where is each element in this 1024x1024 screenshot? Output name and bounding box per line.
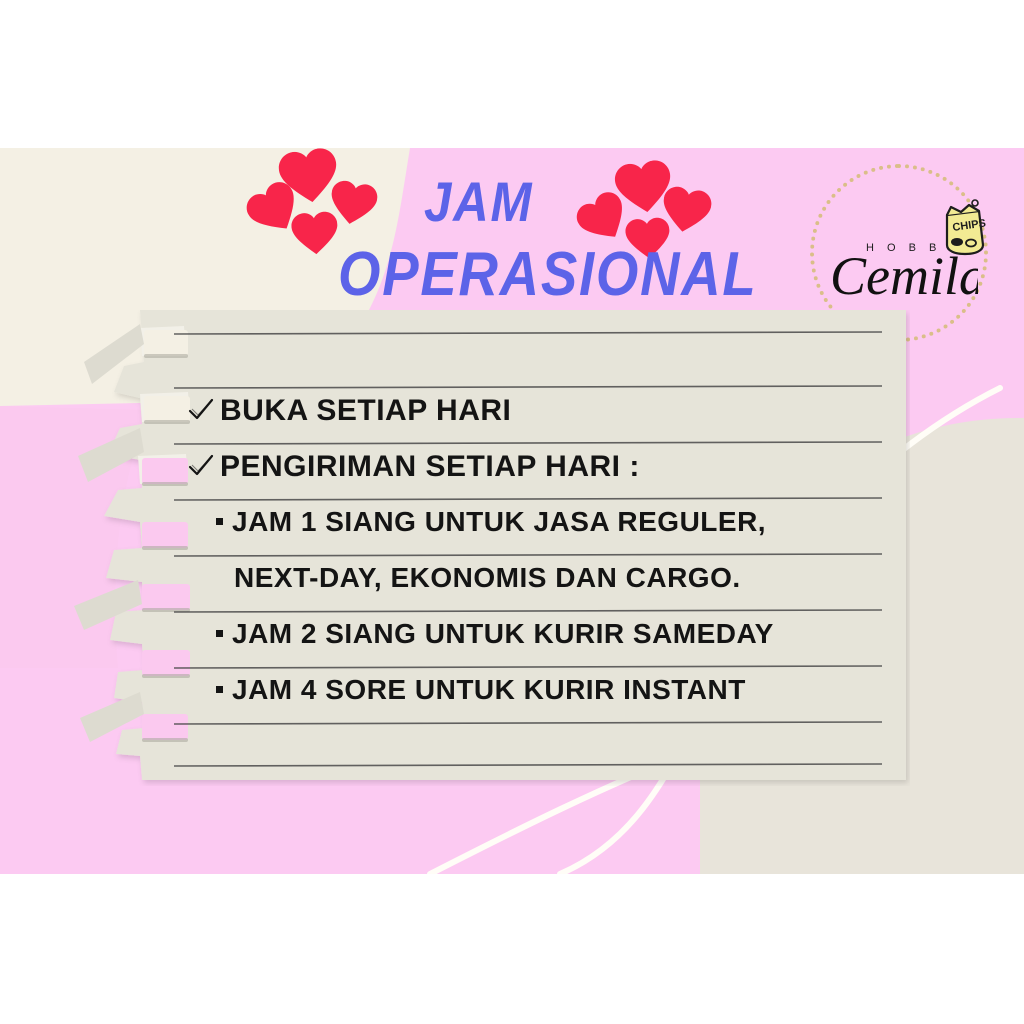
note-item-text: PENGIRIMAN SETIAP HARI : (220, 452, 640, 482)
check-icon (188, 398, 214, 422)
graphic-band: JAM OPERASIONAL H O B B Y Cemilan CHIPS (0, 148, 1024, 874)
note-item-text: JAM 2 SIANG UNTUK KURIR SAMEDAY (232, 620, 774, 648)
note-paper: BUKA SETIAP HARI PENGIRIMAN SETIAP HARI … (44, 310, 910, 786)
check-icon (188, 454, 214, 478)
note-item-text: JAM 1 SIANG UNTUK JASA REGULER, (232, 508, 766, 536)
bullet-icon (216, 518, 223, 525)
chips-bag-icon: CHIPS (935, 197, 989, 257)
note-item-text: BUKA SETIAP HARI (220, 396, 511, 426)
heart-icon (291, 210, 340, 257)
note-item-text: NEXT-DAY, EKONOMIS DAN CARGO. (234, 564, 741, 592)
note-ruled-lines (44, 310, 910, 786)
poster-canvas: JAM OPERASIONAL H O B B Y Cemilan CHIPS (0, 0, 1024, 1024)
note-item-text: JAM 4 SORE UNTUK KURIR INSTANT (232, 676, 746, 704)
bullet-icon (216, 630, 223, 637)
bullet-icon (216, 686, 223, 693)
page-title-line1: JAM (424, 174, 533, 230)
page-title-line2: OPERASIONAL (338, 244, 758, 306)
